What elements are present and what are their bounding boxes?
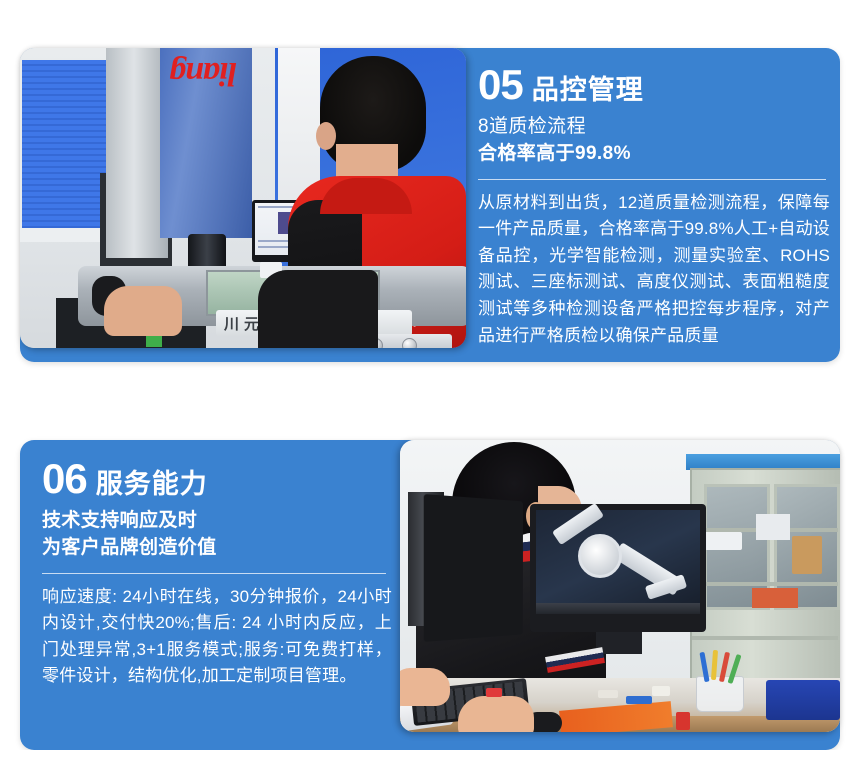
section-06-body: 响应速度: 24小时在线，30分钟报价，24小时内设计,交付快20%;售后: 2… bbox=[42, 584, 392, 690]
desk-small-part bbox=[652, 686, 670, 696]
left-monitor bbox=[424, 494, 523, 642]
section-card-06: 06 服务能力 技术支持响应及时 为客户品牌创造价值 响应速度: 24小时在线，… bbox=[20, 440, 840, 750]
cabinet-item-redbox bbox=[752, 588, 798, 608]
control-knob bbox=[402, 338, 417, 348]
engineer-right-hand bbox=[458, 696, 534, 732]
engineer-left-hand bbox=[400, 668, 450, 706]
cabinet-shelf bbox=[692, 582, 838, 586]
screen-taskbar bbox=[536, 603, 700, 614]
cabinet-item-carton bbox=[792, 536, 822, 574]
engineering-service-photo bbox=[400, 440, 840, 732]
section-05-subtitle-2: 合格率高于99.8% bbox=[478, 141, 830, 168]
section-05-divider bbox=[478, 179, 826, 180]
cabinet-item-papers bbox=[700, 532, 742, 550]
section-05-text: 05 品控管理 8道质检流程 合格率高于99.8% 从原材料到出货，12道质量检… bbox=[478, 64, 830, 349]
screen-line bbox=[258, 240, 292, 242]
section-05-title: 品控管理 bbox=[532, 77, 644, 104]
cabinet-item-box bbox=[756, 514, 790, 540]
section-06-divider bbox=[42, 573, 386, 574]
page-bottom-margin bbox=[0, 750, 860, 780]
section-05-number: 05 bbox=[478, 64, 523, 106]
desk-small-part bbox=[486, 688, 502, 697]
green-marker bbox=[146, 336, 162, 347]
section-06-title: 服务能力 bbox=[96, 471, 208, 498]
desk-small-part bbox=[598, 690, 618, 698]
worker-arm bbox=[258, 270, 378, 348]
worker-hand bbox=[104, 286, 182, 336]
section-06-subtitle-2: 为客户品牌创造价值 bbox=[42, 535, 392, 562]
desk-small-part bbox=[676, 712, 690, 730]
blue-storage-box bbox=[766, 680, 840, 720]
section-06-number: 06 bbox=[42, 458, 87, 500]
section-05-heading: 05 品控管理 bbox=[478, 64, 830, 106]
section-06-heading: 06 服务能力 bbox=[42, 458, 392, 500]
product-detail-page: liang V 川元精夹也 bbox=[0, 0, 860, 780]
machine-brand-text: liang bbox=[170, 54, 237, 92]
quality-inspection-photo: liang V 川元精夹也 bbox=[20, 48, 466, 348]
worker-ear bbox=[316, 122, 336, 150]
section-05-body: 从原材料到出货，12道质量检测流程，保障每一件产品质量，合格率高于99.8%人工… bbox=[478, 190, 830, 349]
section-card-05: liang V 川元精夹也 bbox=[20, 48, 840, 362]
desk-small-part bbox=[626, 696, 652, 704]
section-05-subtitle-1: 8道质检流程 bbox=[478, 114, 830, 141]
cabinet-shelf bbox=[692, 636, 838, 640]
section-06-subtitle-1: 技术支持响应及时 bbox=[42, 508, 392, 535]
cad-model-hub bbox=[578, 534, 622, 578]
section-06-text: 06 服务能力 技术支持响应及时 为客户品牌创造价值 响应速度: 24小时在线，… bbox=[42, 458, 392, 690]
machine-column bbox=[106, 48, 168, 258]
